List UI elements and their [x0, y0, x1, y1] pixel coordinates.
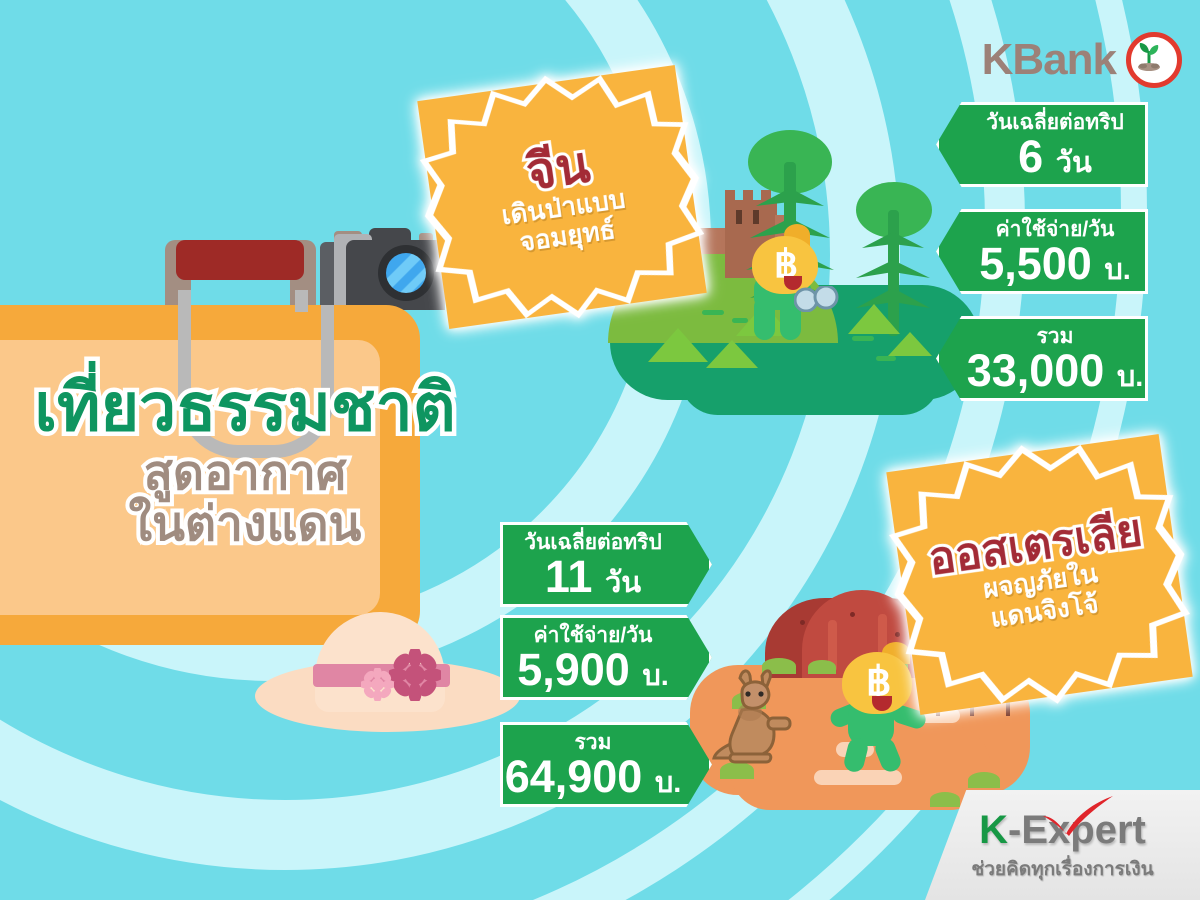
k-expert-logo-k: K — [979, 808, 1008, 852]
title-line-3: ในต่างแดน — [0, 501, 490, 548]
badge-caption: วันเฉลี่ยต่อทริป — [503, 525, 683, 554]
badge-china-avg-days: วันเฉลี่ยต่อทริป 6 วัน — [936, 102, 1148, 187]
page-title: เที่ยวธรรมชาติ สูดอากาศ ในต่างแดน — [0, 375, 490, 548]
kbank-logo: KBank — [982, 32, 1182, 88]
badge-china-cost-per-day: ค่าใช้จ่าย/วัน 5,500 บ. — [936, 209, 1148, 294]
badge-value: 6 วัน — [965, 134, 1145, 179]
sun-hat-icon — [255, 612, 520, 732]
badge-australia-total: รวม 64,900 บ. — [500, 722, 712, 807]
badge-caption: รวม — [965, 319, 1145, 348]
title-line-2: สูดอากาศ — [0, 450, 490, 497]
k-expert-banner: K-Expert ช่วยคิดทุกเรื่องการเงิน — [925, 790, 1200, 900]
badge-caption: ค่าใช้จ่าย/วัน — [503, 618, 683, 647]
badge-australia-cost-per-day: ค่าใช้จ่าย/วัน 5,900 บ. — [500, 615, 712, 700]
red-check-icon — [1039, 796, 1117, 836]
kangaroo-icon — [712, 666, 822, 766]
badge-value: 64,900 บ. — [503, 754, 683, 799]
badge-value: 5,500 บ. — [965, 241, 1145, 286]
badge-value: 11 วัน — [503, 554, 683, 599]
badge-caption: ค่าใช้จ่าย/วัน — [965, 212, 1145, 241]
badge-caption: วันเฉลี่ยต่อทริป — [965, 105, 1145, 134]
flower-icon — [389, 649, 441, 701]
flower-icon — [361, 668, 394, 701]
badge-china-total: รวม 33,000 บ. — [936, 316, 1148, 401]
money-bag-mascot-icon: ฿ — [750, 224, 840, 354]
title-line-1: เที่ยวธรรมชาติ — [0, 375, 490, 440]
badge-caption: รวม — [503, 725, 683, 754]
badge-australia-avg-days: วันเฉลี่ยต่อทริป 11 วัน — [500, 522, 712, 607]
kbank-wordmark: KBank — [982, 35, 1116, 85]
k-expert-tagline: ช่วยคิดทุกเรื่องการเงิน — [925, 854, 1200, 884]
australia-destination-badge: ออสเตรเลีย ผจญภัยใน แดนจิงโจ้ — [886, 434, 1192, 715]
badge-value: 33,000 บ. — [965, 348, 1145, 393]
k-expert-logo: K-Expert — [979, 808, 1146, 853]
infographic-canvas: KBank — [0, 0, 1200, 900]
badge-value: 5,900 บ. — [503, 647, 683, 692]
binoculars-icon — [794, 286, 840, 312]
china-subtitle: เดินป่าแบบ จอมยุทธ์ — [500, 184, 631, 259]
sapling-seal-icon — [1126, 32, 1182, 88]
china-destination-badge: จีน เดินป่าแบบ จอมยุทธ์ — [417, 65, 706, 329]
